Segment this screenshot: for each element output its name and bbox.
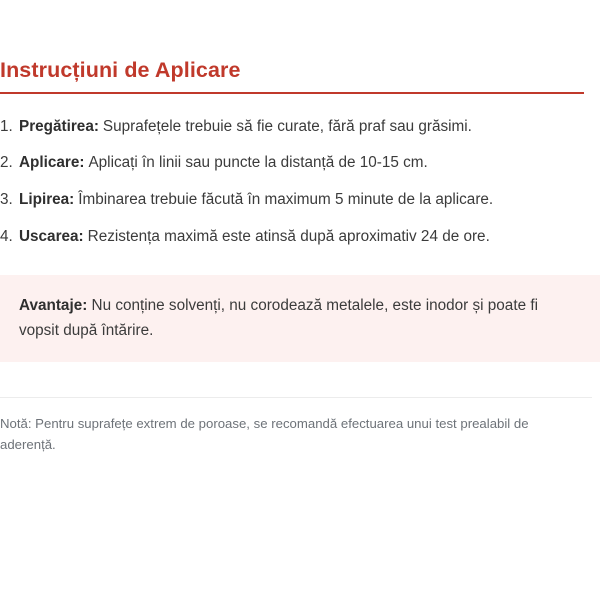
step-description: Aplicați în linii sau puncte la distanță… [88,152,427,174]
step-description: Suprafețele trebuie să fie curate, fără … [103,116,472,138]
footer-note: Notă: Pentru suprafețe extrem de poroase… [0,398,565,456]
callout-body: Avantaje: Nu conține solvenți, nu corode… [19,294,559,342]
list-item: 1. Pregătirea: Suprafețele trebuie să fi… [0,116,600,153]
callout-term: Avantaje: [19,297,87,314]
list-item: 3. Lipirea: Îmbinarea trebuie făcută în … [0,189,600,226]
step-term: Pregătirea: [19,116,103,138]
step-number: 4. [0,226,19,248]
advantages-callout: Avantaje: Nu conține solvenți, nu corode… [0,275,600,361]
step-term: Lipirea: [19,189,78,211]
list-item: 4. Uscarea: Rezistența maximă este atins… [0,226,600,263]
step-number: 2. [0,152,19,174]
instructions-document: Instrucțiuni de Aplicare 1. Pregătirea: … [0,0,600,455]
step-description: Îmbinarea trebuie făcută în maximum 5 mi… [78,189,493,211]
step-description: Rezistența maximă este atinsă după aprox… [88,226,490,248]
step-term: Aplicare: [19,152,88,174]
application-steps-list: 1. Pregătirea: Suprafețele trebuie să fi… [0,94,600,263]
step-number: 1. [0,116,19,138]
callout-text: Nu conține solvenți, nu corodează metale… [19,297,538,338]
step-number: 3. [0,189,19,211]
list-item: 2. Aplicare: Aplicați în linii sau punct… [0,152,600,189]
page-title: Instrucțiuni de Aplicare [0,0,600,92]
step-term: Uscarea: [19,226,88,248]
